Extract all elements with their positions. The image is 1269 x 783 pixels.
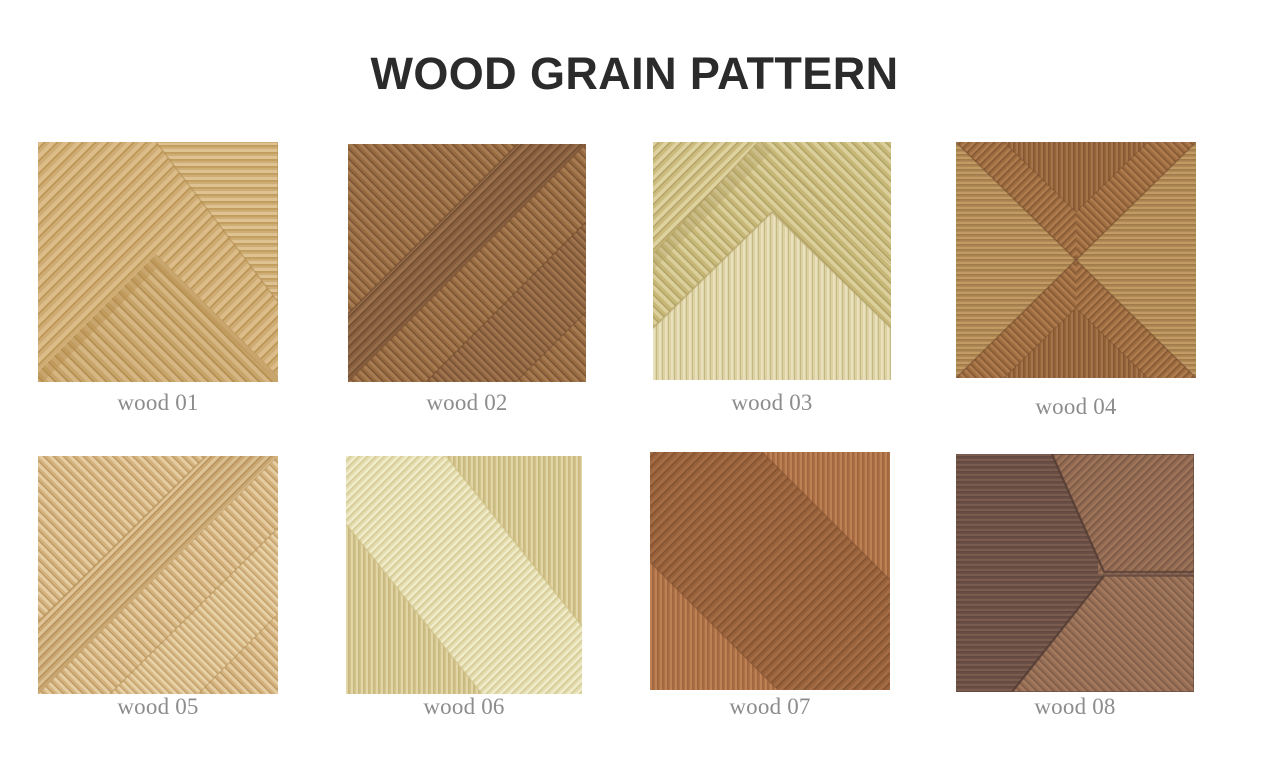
wood-swatch-08-label: wood 08 <box>956 694 1194 720</box>
swatch-card-wood-01[interactable]: wood 01 <box>38 142 278 382</box>
wood-swatch-07-label: wood 07 <box>650 694 890 720</box>
wood-swatch-04-image <box>956 142 1196 378</box>
wood-swatch-03-image <box>653 142 891 380</box>
wood-swatch-08-image <box>956 454 1194 692</box>
swatch-card-wood-08[interactable]: wood 08 <box>956 454 1194 692</box>
wood-swatch-05-image <box>38 456 278 694</box>
wood-swatch-01-label: wood 01 <box>38 390 278 416</box>
wood-swatch-06-label: wood 06 <box>346 694 582 720</box>
wood-swatch-02-label: wood 02 <box>348 390 586 416</box>
wood-swatch-05-label: wood 05 <box>38 694 278 720</box>
wood-swatch-03-label: wood 03 <box>653 390 891 416</box>
wood-swatch-06-image <box>346 456 582 694</box>
swatch-card-wood-06[interactable]: wood 06 <box>346 456 582 694</box>
swatch-card-wood-02[interactable]: wood 02 <box>348 144 586 382</box>
page-canvas: WOOD GRAIN PATTERN <box>0 0 1269 783</box>
wood-swatch-01-image <box>38 142 278 382</box>
swatch-card-wood-03[interactable]: wood 03 <box>653 142 891 380</box>
swatch-grid: wood 01 <box>0 0 1269 783</box>
wood-swatch-02-image <box>348 144 586 382</box>
wood-swatch-04-label: wood 04 <box>956 394 1196 420</box>
swatch-card-wood-07[interactable]: wood 07 <box>650 452 890 690</box>
wood-swatch-07-image <box>650 452 890 690</box>
swatch-card-wood-04[interactable]: wood 04 <box>956 142 1196 378</box>
swatch-card-wood-05[interactable]: wood 05 <box>38 456 278 694</box>
